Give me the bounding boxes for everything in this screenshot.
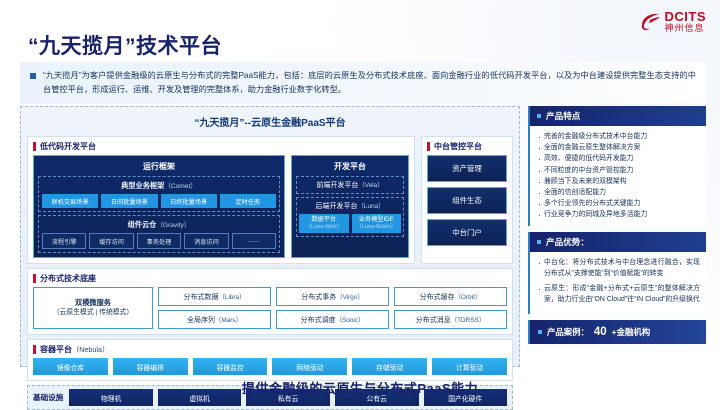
base-section-title: 分布式技术底座 xyxy=(40,273,96,284)
base-column: 分布式数据（Libra） 全局序列（Mars） xyxy=(158,287,271,329)
comet-chips: 联机交易场景 日间批量场景 日终批量场景 定时任务 xyxy=(42,194,276,208)
frontend-dev-cn: 前端开发平台 xyxy=(316,182,358,189)
feature-item: 完善的金融级分布式技术中台能力 xyxy=(537,131,700,142)
backend-dev-en: （Luna） xyxy=(358,203,385,210)
section-tick-icon xyxy=(427,142,430,151)
base-cell-en: （Sonic） xyxy=(336,317,365,324)
container-chip[interactable]: 镜像仓库 xyxy=(33,358,108,375)
base-cell[interactable]: 分布式缓存（Orbit） xyxy=(394,287,507,306)
container-title-en: （Nebula） xyxy=(72,345,109,354)
lowcode-section-header: 低代码开发平台 xyxy=(33,141,409,152)
feature-item: 行业竞争力的同城及异地多活能力 xyxy=(537,209,700,220)
container-platform-section: 容器平台（Nebula） 镜像仓库 容器编排 容器监控 网络驱动 存储驱动 计算… xyxy=(27,339,513,381)
base-cell-cn: 全局序列 xyxy=(187,317,215,324)
feature-item: 兼顾当下及未来的双模架构 xyxy=(537,176,700,187)
container-chip[interactable]: 存储驱动 xyxy=(352,358,427,375)
container-chips: 镜像仓库 容器编排 容器监控 网络驱动 存储驱动 计算驱动 xyxy=(33,358,507,375)
features-list: 完善的金融级分布式技术中台能力 全面的金融云原生整体解决方案 高效、便捷的低代码… xyxy=(537,131,700,221)
frontend-dev-en: （Vela） xyxy=(358,182,383,189)
features-card-body: 完善的金融级分布式技术中台能力 全面的金融云原生整体解决方案 高效、便捷的低代码… xyxy=(530,126,706,226)
logo-cn: 神州信息 xyxy=(665,24,707,33)
base-columns: 分布式数据（Libra） 全局序列（Mars） 分布式事务（Virgo） xyxy=(158,287,507,329)
base-cell[interactable]: 全局序列（Mars） xyxy=(158,310,271,329)
container-chip[interactable]: 容器编排 xyxy=(113,358,188,375)
cases-label: 产品案例： xyxy=(547,326,589,338)
intro-text: “九天揽月”为客户提供金融级的云原生与分布式的完整PaaS能力，包括：底层的云原… xyxy=(43,69,696,96)
base-cell-en: （Libra） xyxy=(219,294,246,301)
runframe-title: 运行框架 xyxy=(38,159,280,173)
backend-sub-chips: 数据平台 （Luna-Web） 业务模型IDE （Luna-Robin） xyxy=(299,214,401,233)
feature-item: 全面的信创适配能力 xyxy=(537,187,700,198)
comet-chip[interactable]: 联机交易场景 xyxy=(42,194,98,208)
dual-mode-microservice[interactable]: 双模微服务 （云原生模式 | 传统模式） xyxy=(33,287,153,329)
intro-banner: “九天揽月”为客户提供金融级的云原生与分布式的完整PaaS能力，包括：底层的云原… xyxy=(20,62,706,104)
backend-dev-cn: 后端开发平台 xyxy=(316,203,358,210)
content-area: “九天揽月”--云原生金融PaaS平台 低代码开发平台 运行框架 xyxy=(20,106,706,367)
product-cases-card: 产品案例： 40 +金融机构 xyxy=(528,320,706,344)
features-card-title: 产品特点 xyxy=(546,110,580,122)
container-section-header: 容器平台（Nebula） xyxy=(33,344,507,355)
distributed-base-section: 分布式技术底座 双模微服务 （云原生模式 | 传统模式） 分布式数据（Libra… xyxy=(27,268,513,335)
section-tick-icon xyxy=(33,345,36,354)
product-advantages-card: 产品优势： 中台化：将分布式技术与中台理念进行融合，实现分布式从“支撑使能”到“… xyxy=(528,232,706,314)
brand-logo: DCITS 神州信息 xyxy=(639,10,707,33)
dual-mode-title: 双模微服务 xyxy=(75,298,111,309)
comet-title-en: （Comet） xyxy=(164,183,197,190)
devplatform-panel[interactable]: 开发平台 前端开发平台（Vela） 后端开发平台（Luna） 数据平台 （Lun… xyxy=(291,155,409,258)
base-section-header: 分布式技术底座 xyxy=(33,273,507,284)
base-cell-cn: 分布式消息 xyxy=(416,317,451,324)
bullet-square-icon xyxy=(30,73,36,79)
base-cell-cn: 分布式事务 xyxy=(301,294,336,301)
lowcode-section: 低代码开发平台 运行框架 典型业务框架（Comet） 联机交易场景 xyxy=(27,136,415,264)
diagram-title: “九天揽月”--云原生金融PaaS平台 xyxy=(27,112,513,132)
feature-item: 不同粒度的中台资产管控能力 xyxy=(537,165,700,176)
control-item[interactable]: 中台门户 xyxy=(427,219,507,246)
base-cell-en: （TDRSS） xyxy=(451,317,485,324)
comet-chip[interactable]: 定时任务 xyxy=(220,194,276,208)
backend-sub-chip[interactable]: 数据平台 （Luna-Web） xyxy=(299,214,349,233)
gravity-chip[interactable]: …… xyxy=(232,233,276,249)
base-cell[interactable]: 分布式数据（Libra） xyxy=(158,287,271,306)
logo-swoosh-icon xyxy=(639,12,661,32)
base-grid: 双模微服务 （云原生模式 | 传统模式） 分布式数据（Libra） 全局序列（M… xyxy=(33,287,507,329)
advantage-item: 中台化：将分布式技术与中台理念进行融合，实现分布式从“支撑使能”到“价值赋能”的… xyxy=(537,257,700,279)
container-chip[interactable]: 网络驱动 xyxy=(272,358,347,375)
cases-unit: +金融机构 xyxy=(612,326,650,338)
base-cell-en: （Virgo） xyxy=(336,294,364,301)
gravity-chip[interactable]: 消息访问 xyxy=(184,233,228,249)
control-item[interactable]: 资产管理 xyxy=(427,155,507,182)
feature-item: 全面的金融云原生整体解决方案 xyxy=(537,142,700,153)
page-title: “九天揽月”技术平台 xyxy=(28,30,222,60)
advantage-item: 云原生：形成“金融+分布式+云原生”的整体解决方案，助力行业由“ON Cloud… xyxy=(537,283,700,305)
backend-dev-row[interactable]: 后端开发平台（Luna） 数据平台 （Luna-Web） 业务模型IDE （Lu… xyxy=(296,197,404,237)
backend-sub-en: （Luna-Web） xyxy=(300,224,348,231)
section-tick-icon xyxy=(33,274,36,283)
container-title-cn: 容器平台 xyxy=(40,345,72,354)
advantages-card-body: 中台化：将分布式技术与中台理念进行融合，实现分布式从“支撑使能”到“价值赋能”的… xyxy=(530,252,706,314)
gravity-chips: 流程引擎 缓存访问 事务处理 消息访问 …… xyxy=(42,233,276,249)
control-section-header: 中台管控平台 xyxy=(427,141,507,152)
gravity-title-en: （Gravity） xyxy=(156,222,190,229)
feature-item: 多个行业领先的分布式关键能力 xyxy=(537,198,700,209)
lowcode-section-title: 低代码开发平台 xyxy=(40,141,96,152)
control-items: 资产管理 组件生态 中台门户 xyxy=(427,155,507,258)
control-item[interactable]: 组件生态 xyxy=(427,187,507,214)
advantages-card-header: 产品优势： xyxy=(530,232,706,252)
base-cell-cn: 分布式调度 xyxy=(301,317,336,324)
gravity-title: 组件云仓（Gravity） xyxy=(42,219,276,230)
backend-sub-cn: 业务模型IDE xyxy=(359,216,394,223)
gravity-chip[interactable]: 流程引擎 xyxy=(42,233,86,249)
slide-root: DCITS 神州信息 “九天揽月”技术平台 “九天揽月”为客户提供金融级的云原生… xyxy=(0,0,720,405)
base-column: 分布式事务（Virgo） 分布式调度（Sonic） xyxy=(276,287,389,329)
comet-box[interactable]: 典型业务框架（Comet） 联机交易场景 日间批量场景 日终批量场景 定时任务 xyxy=(38,176,280,212)
logo-text: DCITS 神州信息 xyxy=(665,10,707,33)
comet-chip[interactable]: 日间批量场景 xyxy=(101,194,157,208)
backend-sub-en: （Luna-Robin） xyxy=(353,224,401,231)
base-cell-en: （Mars） xyxy=(215,317,242,324)
comet-chip[interactable]: 日终批量场景 xyxy=(161,194,217,208)
features-card-header: 产品特点 xyxy=(530,106,706,126)
gravity-box[interactable]: 组件云仓（Gravity） 流程引擎 缓存访问 事务处理 消息访问 …… xyxy=(38,215,280,253)
gravity-chip[interactable]: 事务处理 xyxy=(137,233,181,249)
base-cell[interactable]: 分布式调度（Sonic） xyxy=(276,310,389,329)
frontend-dev-row[interactable]: 前端开发平台（Vela） xyxy=(296,176,404,194)
logo-en: DCITS xyxy=(665,10,707,23)
container-section-title: 容器平台（Nebula） xyxy=(40,344,109,355)
control-section-title: 中台管控平台 xyxy=(434,141,482,152)
architecture-diagram: “九天揽月”--云原生金融PaaS平台 低代码开发平台 运行框架 xyxy=(20,106,520,367)
container-chip[interactable]: 计算驱动 xyxy=(432,358,507,375)
control-platform-section: 中台管控平台 资产管理 组件生态 中台门户 xyxy=(421,136,513,264)
bullet-square-icon xyxy=(538,330,542,334)
advantages-card-title: 产品优势： xyxy=(546,236,589,248)
container-chip[interactable]: 容器监控 xyxy=(193,358,268,375)
base-cell[interactable]: 分布式消息（TDRSS） xyxy=(394,310,507,329)
gravity-chip[interactable]: 缓存访问 xyxy=(89,233,133,249)
section-tick-icon xyxy=(33,142,36,151)
lowcode-body: 运行框架 典型业务框架（Comet） 联机交易场景 日间批量场景 日终批量场景 … xyxy=(33,155,409,258)
advantages-list: 中台化：将分布式技术与中台理念进行融合，实现分布式从“支撑使能”到“价值赋能”的… xyxy=(537,257,700,305)
base-cell-cn: 分布式缓存 xyxy=(420,294,455,301)
cases-value: 40 xyxy=(594,326,607,338)
base-cell-en: （Orbit） xyxy=(455,294,482,301)
bullet-square-icon xyxy=(537,240,541,244)
base-cell[interactable]: 分布式事务（Virgo） xyxy=(276,287,389,306)
dual-mode-sub: （云原生模式 | 传统模式） xyxy=(53,308,133,318)
backend-sub-cn: 数据平台 xyxy=(311,216,336,223)
runframe-panel[interactable]: 运行框架 典型业务框架（Comet） 联机交易场景 日间批量场景 日终批量场景 … xyxy=(33,155,285,258)
bullet-square-icon xyxy=(537,114,541,118)
base-cell-cn: 分布式数据 xyxy=(184,294,219,301)
footer-tagline: 提供金融级的云原生与分布式PaaS能力 xyxy=(0,378,720,397)
gravity-title-cn: 组件云仓 xyxy=(128,220,157,229)
product-features-card: 产品特点 完善的金融级分布式技术中台能力 全面的金融云原生整体解决方案 高效、便… xyxy=(528,106,706,226)
diagram-row-platforms: 低代码开发平台 运行框架 典型业务框架（Comet） 联机交易场景 xyxy=(27,136,513,264)
right-panel: 产品特点 完善的金融级分布式技术中台能力 全面的金融云原生整体解决方案 高效、便… xyxy=(528,106,706,367)
comet-title-cn: 典型业务框架 xyxy=(121,181,164,190)
devplatform-title: 开发平台 xyxy=(296,159,404,173)
comet-title: 典型业务框架（Comet） xyxy=(42,180,276,191)
backend-sub-chip[interactable]: 业务模型IDE （Luna-Robin） xyxy=(352,214,402,233)
feature-item: 高效、便捷的低代码开发能力 xyxy=(537,153,700,164)
base-column: 分布式缓存（Orbit） 分布式消息（TDRSS） xyxy=(394,287,507,329)
